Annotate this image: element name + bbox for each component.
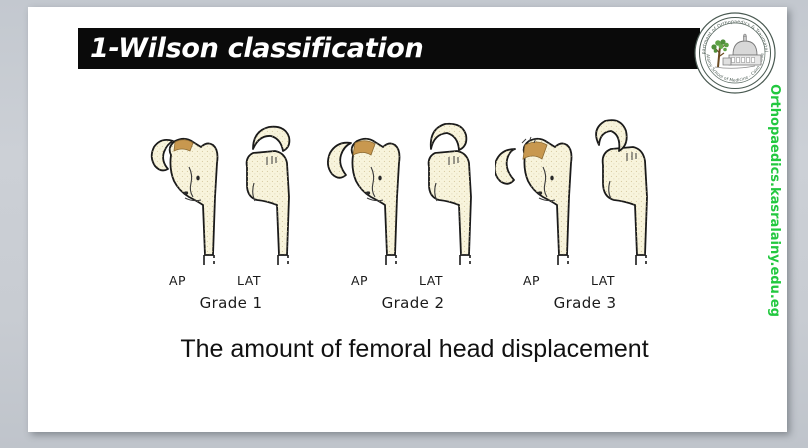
grade-group-3: AP LAT Grade 3 [495,105,675,320]
grade-label-3: Grade 3 [495,294,675,312]
view-label-lat: LAT [237,273,261,288]
ap-view-grade-2 [328,139,400,265]
femur-illustration-grade-1 [141,105,321,275]
grade-label-1: Grade 1 [141,294,321,312]
view-labels-grade-2: AP LAT [323,273,503,291]
view-label-ap: AP [351,273,368,288]
slide-title-bar: 1-Wilson classification [78,28,700,69]
kasr-alainy-orthopaedics-logo: Department of Orthopaedics & Traumatolog… [693,11,777,95]
site-url-watermark: Orthopaedics.kasralainy.edu.eg [763,95,785,305]
lat-view-grade-3 [596,120,647,265]
femur-illustration-grade-3 [495,105,675,275]
caption-text: The amount of femoral head displacement [166,335,648,363]
presentation-slide: 1-Wilson classification Department of Or… [28,7,787,432]
lat-view-grade-1 [247,127,290,265]
site-url-text: Orthopaedics.kasralainy.edu.eg [767,84,782,317]
view-label-ap: AP [523,273,540,288]
slide-viewer: 1-Wilson classification Department of Or… [0,0,808,448]
femur-illustration-grade-2 [323,105,503,275]
ap-view-grade-3 [495,137,572,265]
grade-group-2: AP LAT Grade 2 [323,105,503,320]
ap-view-grade-1 [152,139,218,265]
wilson-classification-figure: AP LAT Grade 1 [123,105,703,320]
view-label-ap: AP [169,273,186,288]
lat-view-grade-2 [429,124,471,265]
slide-title: 1-Wilson classification [78,33,423,64]
logo-icon: Department of Orthopaedics & Traumatolog… [693,11,777,95]
grade-label-2: Grade 2 [323,294,503,312]
slide-caption: The amount of femoral head displacement [28,335,787,364]
view-label-lat: LAT [591,273,615,288]
grade-group-1: AP LAT Grade 1 [141,105,321,320]
view-labels-grade-1: AP LAT [141,273,321,291]
view-label-lat: LAT [419,273,443,288]
view-labels-grade-3: AP LAT [495,273,675,291]
